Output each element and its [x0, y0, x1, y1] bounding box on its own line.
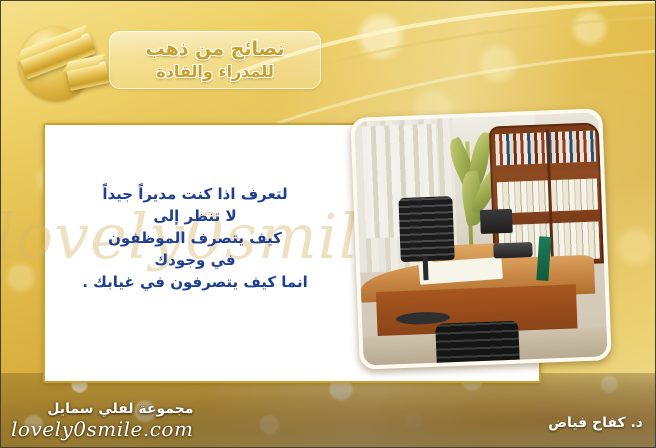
footer-site-url[interactable]: lovely0smile.com	[11, 418, 193, 441]
header-plaque-text: نصائح من ذهب للمدراء والقادة	[109, 37, 321, 82]
photo-white-frame	[350, 108, 611, 369]
quote-line-1: لتعرف اذا كنت مديراً جيداً	[59, 183, 331, 205]
quote-text: لتعرف اذا كنت مديراً جيداً لا تنظر إلى ك…	[59, 183, 331, 293]
footer-group-name: مجموعة لفلي سمايل	[11, 400, 193, 418]
slide-root: نصائح من ذهب للمدراء والقادة lovely0smil…	[0, 0, 656, 448]
footer-author-credit: د. كفاح فياض	[548, 415, 643, 431]
photo-office-chair-back	[399, 196, 455, 261]
quote-line-4: في وجودك	[59, 249, 331, 271]
photo-books-top	[495, 131, 596, 166]
photo-image	[354, 112, 607, 365]
footer-left-credit: مجموعة لفلي سمايل lovely0smile.com	[11, 400, 193, 441]
header-title-line2: للمدراء والقادة	[109, 61, 321, 82]
photo-monitor	[480, 209, 513, 235]
photo-shelf-row-top	[495, 131, 596, 166]
photo-shelf-row-middle	[497, 179, 598, 214]
quote-line-2: لا تنظر إلى	[59, 205, 331, 227]
gold-bar-small-icon	[66, 61, 110, 91]
photo-visitor-chair	[435, 321, 520, 366]
office-photo	[350, 108, 611, 369]
header-plaque: نصائح من ذهب للمدراء والقادة	[109, 31, 321, 89]
header-title-line1: نصائح من ذهب	[109, 37, 321, 61]
photo-telephone	[493, 242, 533, 258]
photo-binders-middle	[497, 179, 598, 214]
photo-office-chair-post	[423, 256, 429, 281]
quote-line-5: انما كيف يتصرفون في غيابك .	[59, 271, 331, 293]
quote-line-3: كيف يتصرف الموظفون	[59, 227, 331, 249]
